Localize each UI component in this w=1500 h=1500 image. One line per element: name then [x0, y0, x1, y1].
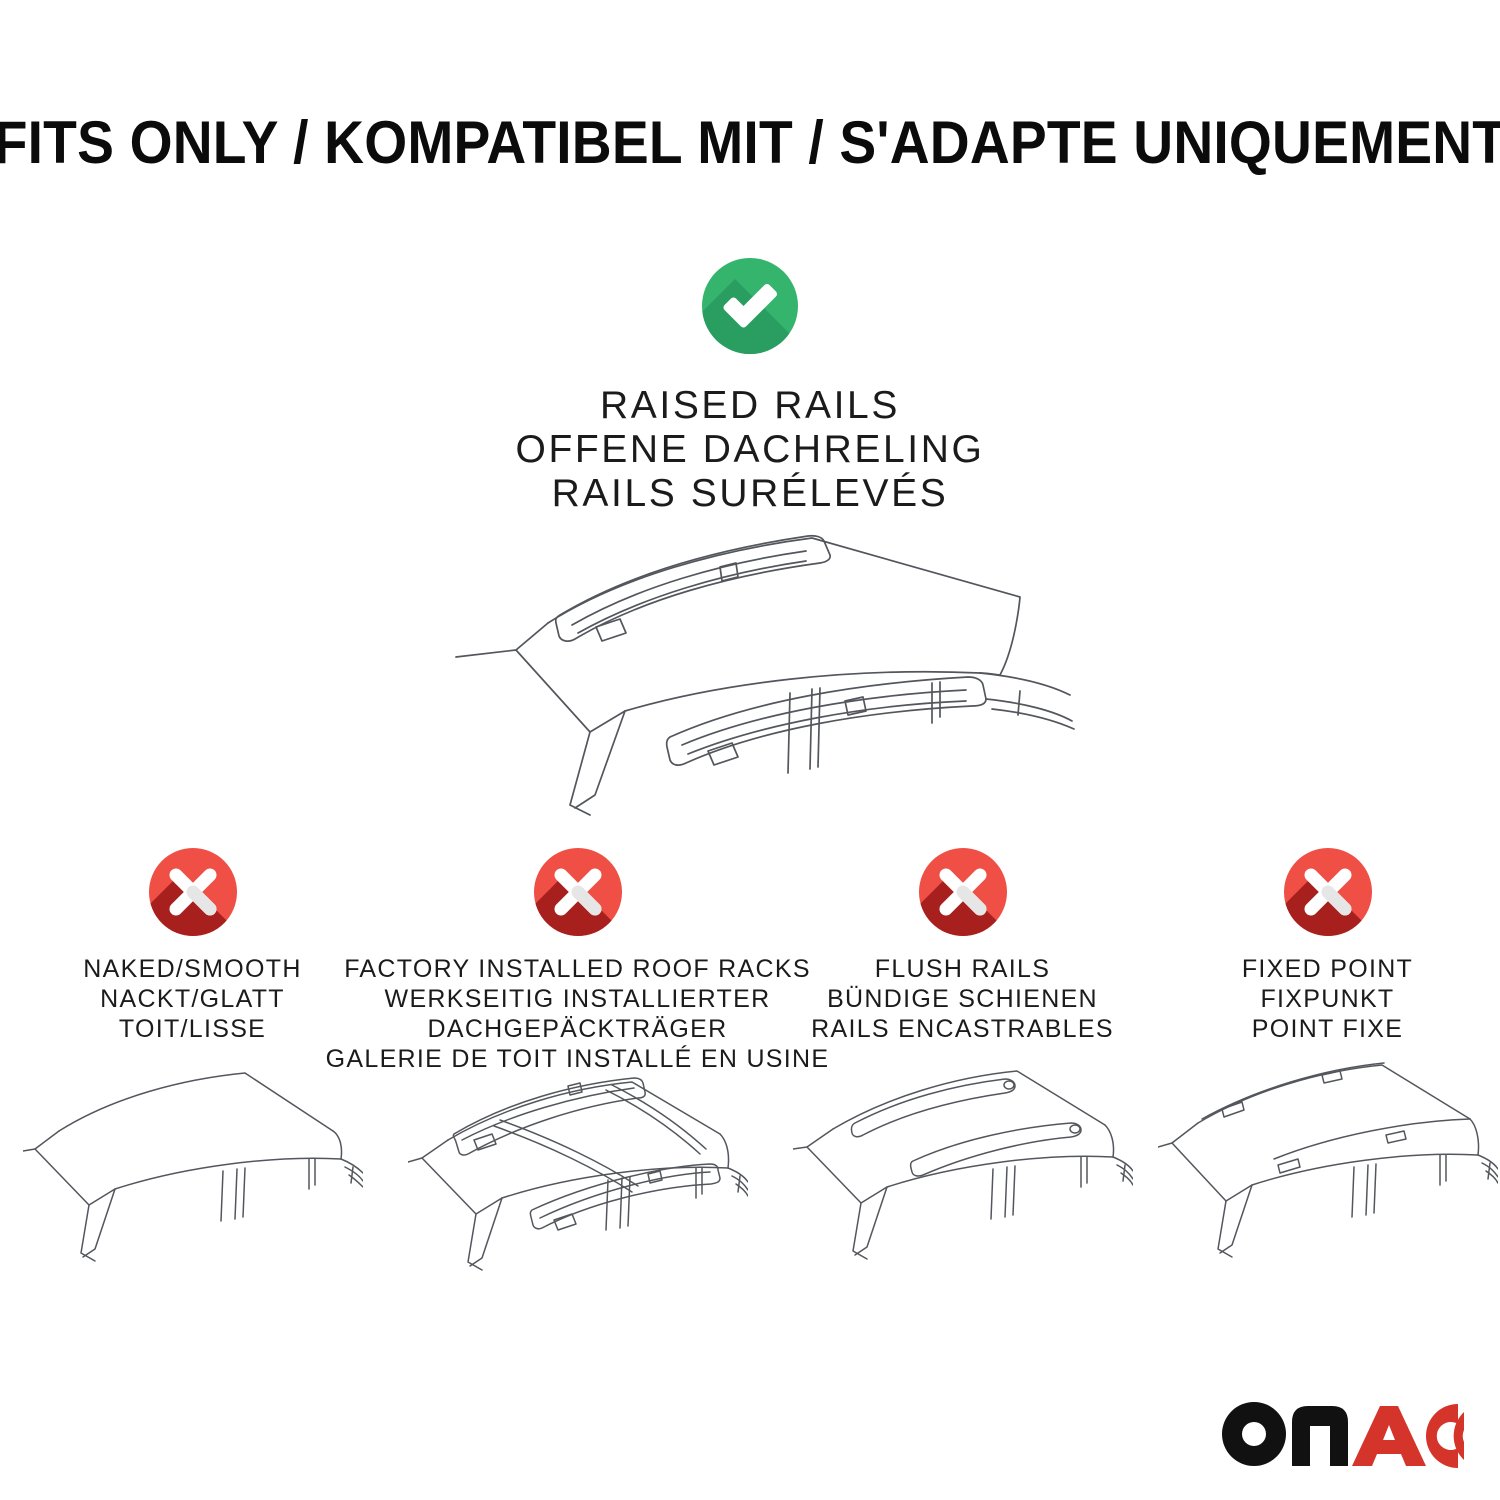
car-roof-flush-rails-illustration — [793, 1053, 1133, 1293]
fixed-point-label-de: FIXPUNKT — [1242, 984, 1413, 1014]
naked-smooth-labels: NAKED/SMOOTH NACKT/GLATT TOIT/LISSE — [83, 954, 301, 1044]
omac-logo — [1220, 1400, 1464, 1472]
infographic-page: FITS ONLY / KOMPATIBEL MIT / S'ADAPTE UN… — [0, 0, 1500, 1500]
incompatible-item-fixed-point: FIXED POINT FIXPUNKT POINT FIXE — [1155, 848, 1500, 1318]
page-title: FITS ONLY / KOMPATIBEL MIT / S'ADAPTE UN… — [0, 100, 1500, 186]
naked-smooth-label-de: NACKT/GLATT — [83, 984, 301, 1014]
incompatible-section: NAKED/SMOOTH NACKT/GLATT TOIT/LISSE — [0, 848, 1500, 1318]
page-title-text: FITS ONLY / KOMPATIBEL MIT / S'ADAPTE UN… — [0, 113, 1500, 173]
compatible-label-en: RAISED RAILS — [516, 384, 985, 428]
incompatible-item-naked-smooth: NAKED/SMOOTH NACKT/GLATT TOIT/LISSE — [0, 848, 385, 1318]
car-roof-factory-racks-illustration — [408, 1070, 748, 1310]
check-circle-icon — [702, 258, 798, 354]
flush-rails-label-en: FLUSH RAILS — [811, 954, 1114, 984]
factory-racks-label-de-1: WERKSEITIG INSTALLIERTER — [326, 984, 830, 1014]
fixed-point-labels: FIXED POINT FIXPUNKT POINT FIXE — [1242, 954, 1413, 1044]
x-circle-icon — [919, 848, 1007, 936]
x-circle-icon — [534, 848, 622, 936]
incompatible-item-factory-racks: FACTORY INSTALLED ROOF RACKS WERKSEITIG … — [385, 848, 770, 1318]
compatible-label-de: OFFENE DACHRELING — [516, 428, 985, 472]
flush-rails-labels: FLUSH RAILS BÜNDIGE SCHIENEN RAILS ENCAS… — [811, 954, 1114, 1044]
naked-smooth-label-fr: TOIT/LISSE — [83, 1014, 301, 1044]
factory-racks-label-de-2: DACHGEPÄCKTRÄGER — [326, 1014, 830, 1044]
compatible-labels: RAISED RAILS OFFENE DACHRELING RAILS SUR… — [516, 384, 985, 516]
x-circle-icon — [149, 848, 237, 936]
flush-rails-label-de: BÜNDIGE SCHIENEN — [811, 984, 1114, 1014]
compatible-section: RAISED RAILS OFFENE DACHRELING RAILS SUR… — [0, 258, 1500, 516]
fixed-point-label-fr: POINT FIXE — [1242, 1014, 1413, 1044]
incompatible-item-flush-rails: FLUSH RAILS BÜNDIGE SCHIENEN RAILS ENCAS… — [770, 848, 1155, 1318]
car-roof-raised-rails-illustration — [420, 505, 1100, 835]
factory-racks-labels: FACTORY INSTALLED ROOF RACKS WERKSEITIG … — [326, 954, 830, 1074]
car-roof-naked-smooth-illustration — [23, 1053, 363, 1293]
car-roof-fixed-point-illustration — [1158, 1053, 1498, 1293]
naked-smooth-label-en: NAKED/SMOOTH — [83, 954, 301, 984]
factory-racks-label-en: FACTORY INSTALLED ROOF RACKS — [326, 954, 830, 984]
x-circle-icon — [1284, 848, 1372, 936]
flush-rails-label-fr: RAILS ENCASTRABLES — [811, 1014, 1114, 1044]
fixed-point-label-en: FIXED POINT — [1242, 954, 1413, 984]
